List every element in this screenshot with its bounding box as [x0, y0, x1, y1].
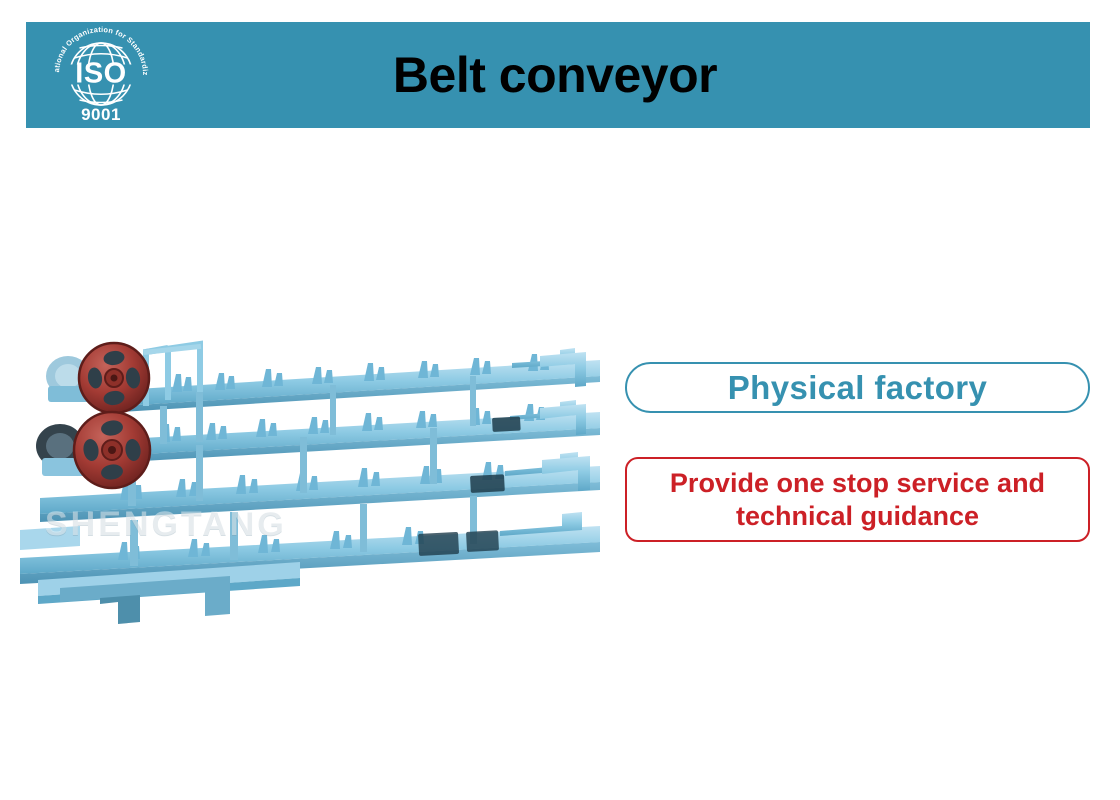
- svg-text:9001: 9001: [81, 105, 121, 124]
- belt-conveyor-photo: [0, 330, 620, 630]
- header-bar: Belt conveyor: [26, 22, 1090, 128]
- physical-factory-label: Physical factory: [728, 371, 988, 404]
- service-guidance-callout: Provide one stop service and technical g…: [625, 457, 1090, 542]
- svg-text:ISO: ISO: [75, 58, 126, 90]
- service-guidance-label: Provide one stop service and technical g…: [670, 467, 1045, 533]
- page-title: Belt conveyor: [26, 50, 1090, 100]
- iso-9001-logo: ISO International Organization for Stand…: [46, 22, 156, 128]
- physical-factory-callout: Physical factory: [625, 362, 1090, 413]
- service-line-1: Provide one stop service and: [670, 468, 1045, 498]
- service-line-2: technical guidance: [736, 501, 979, 531]
